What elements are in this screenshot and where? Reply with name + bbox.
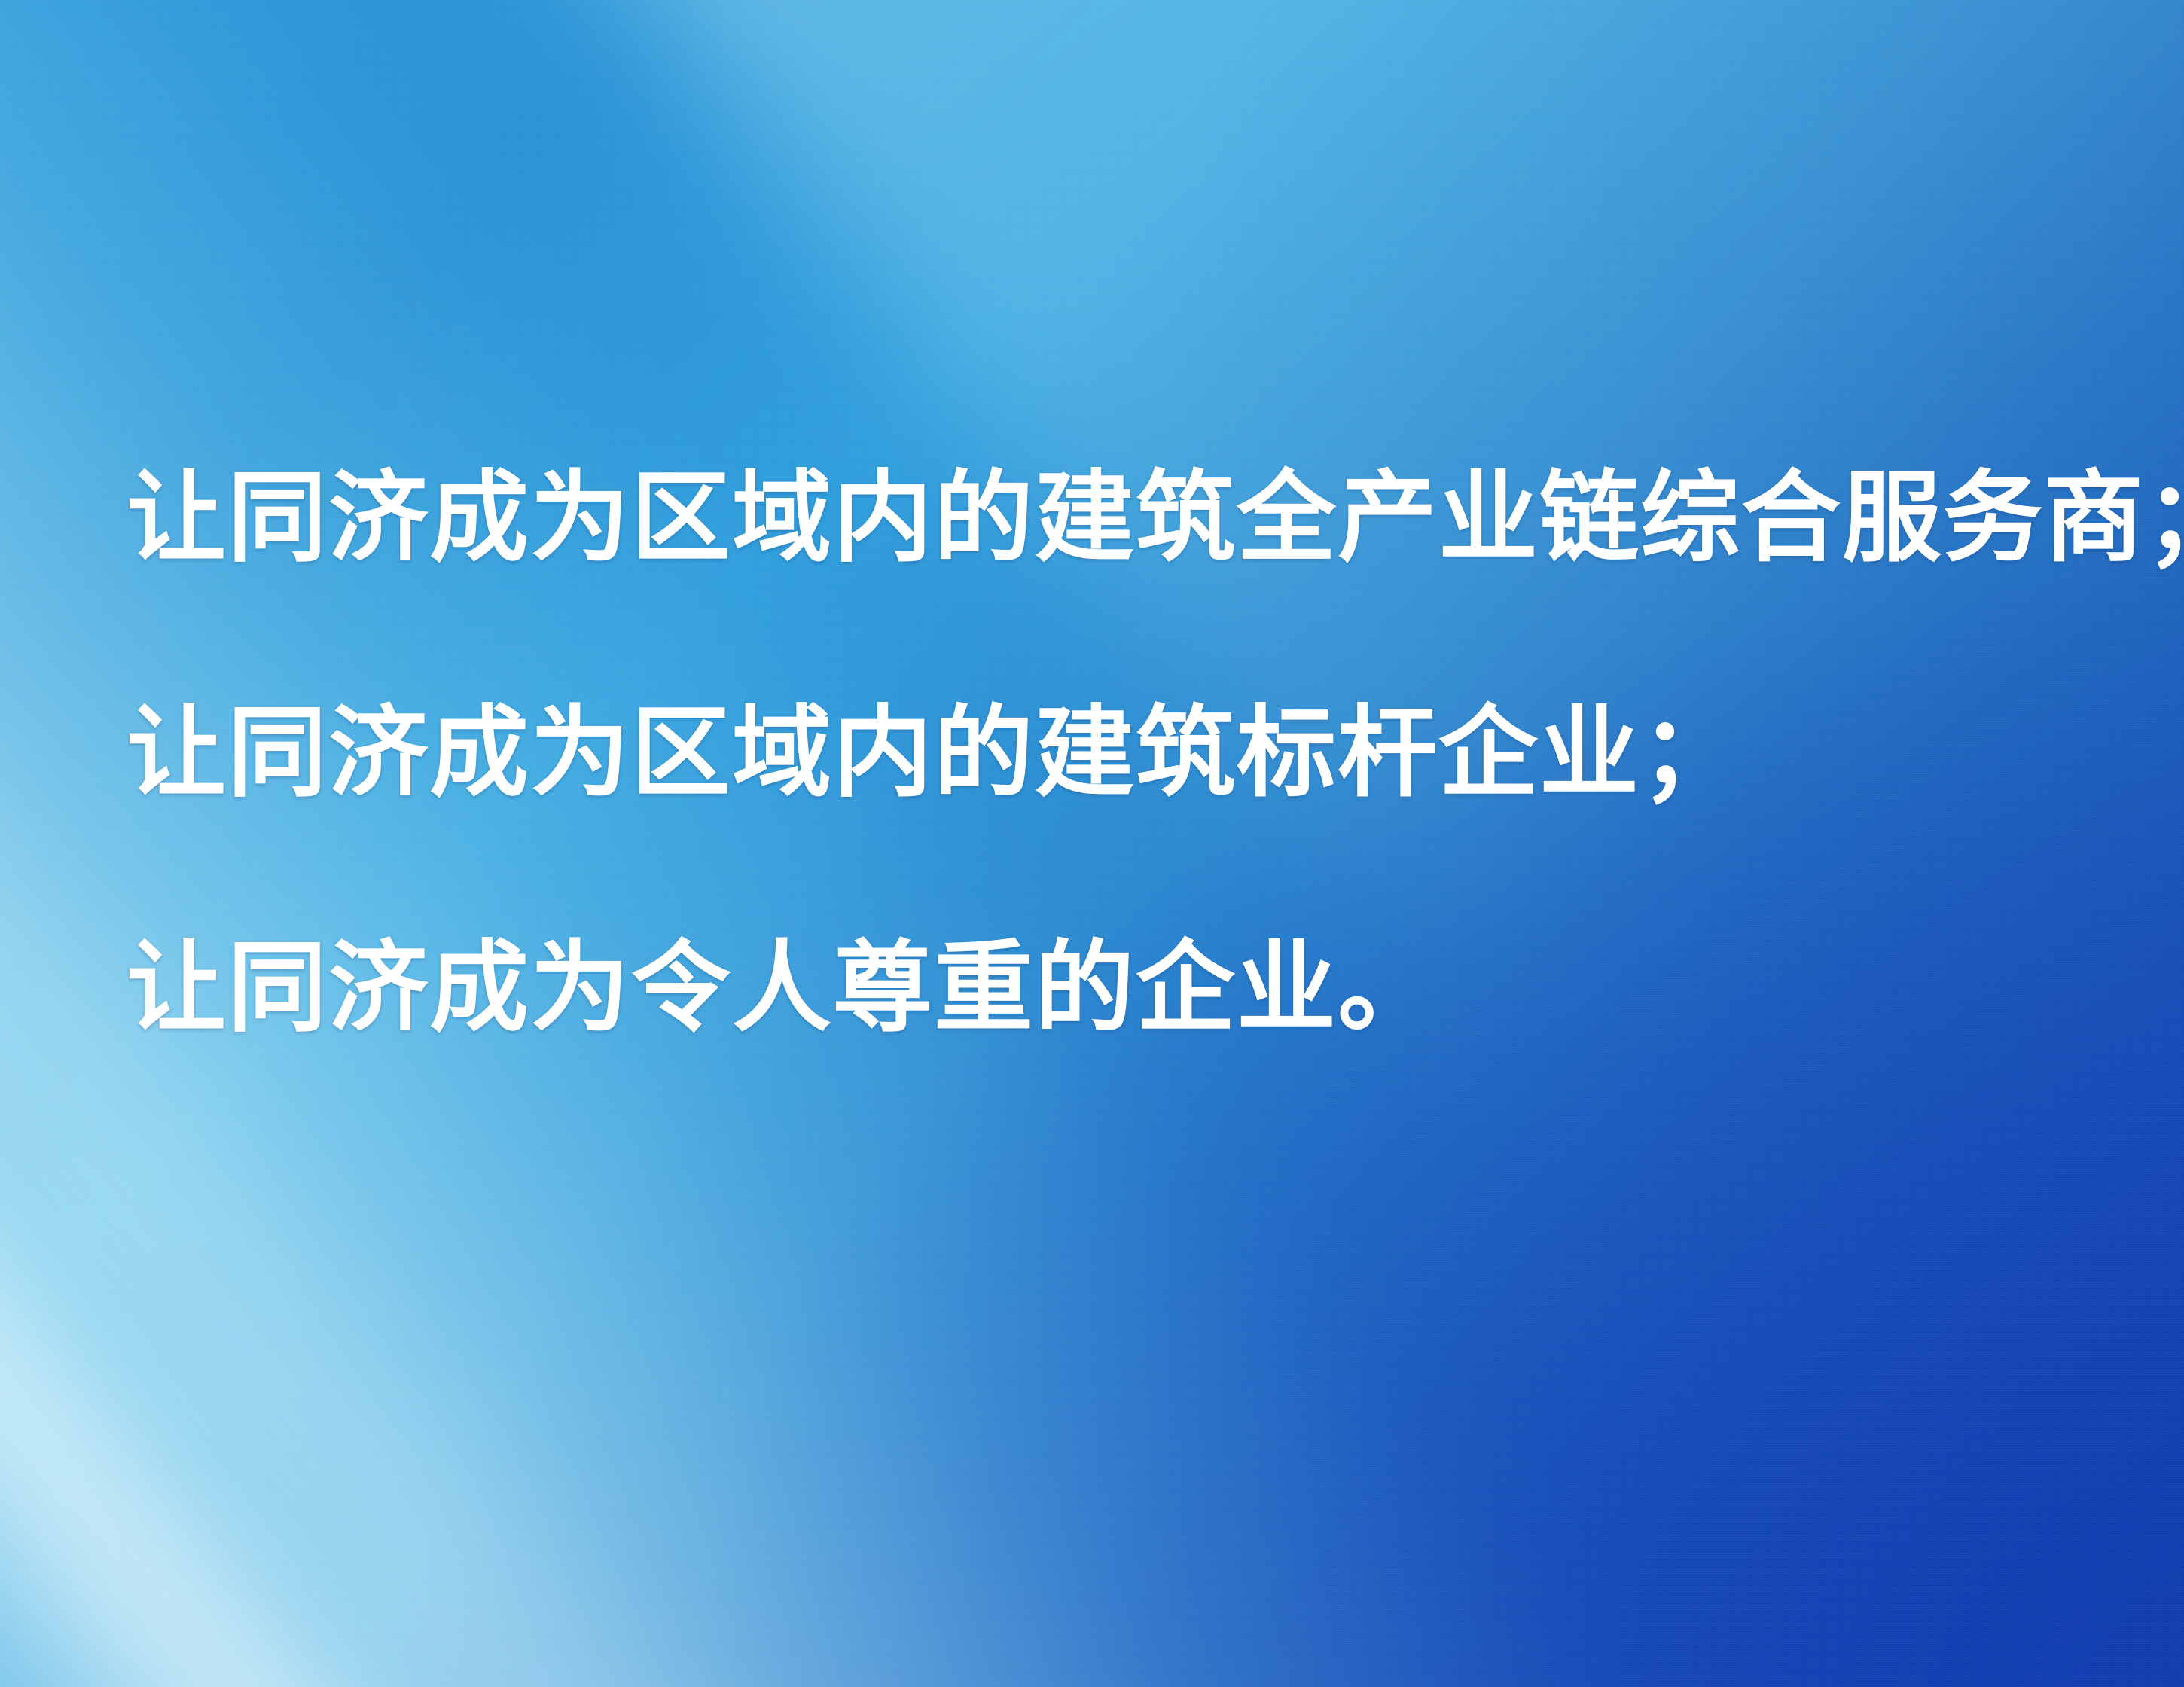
slogan-line-2: 让同济成为区域内的建筑标杆企业；: [127, 703, 2085, 803]
slogan-text-block: 让同济成为区域内的建筑全产业链综合服务商； 让同济成为区域内的建筑标杆企业； 让…: [127, 468, 2085, 1038]
slogan-line-1: 让同济成为区域内的建筑全产业链综合服务商；: [127, 468, 2085, 568]
slide-canvas: 让同济成为区域内的建筑全产业链综合服务商； 让同济成为区域内的建筑标杆企业； 让…: [0, 0, 2184, 1687]
slogan-line-3: 让同济成为令人尊重的企业。: [127, 938, 2085, 1038]
